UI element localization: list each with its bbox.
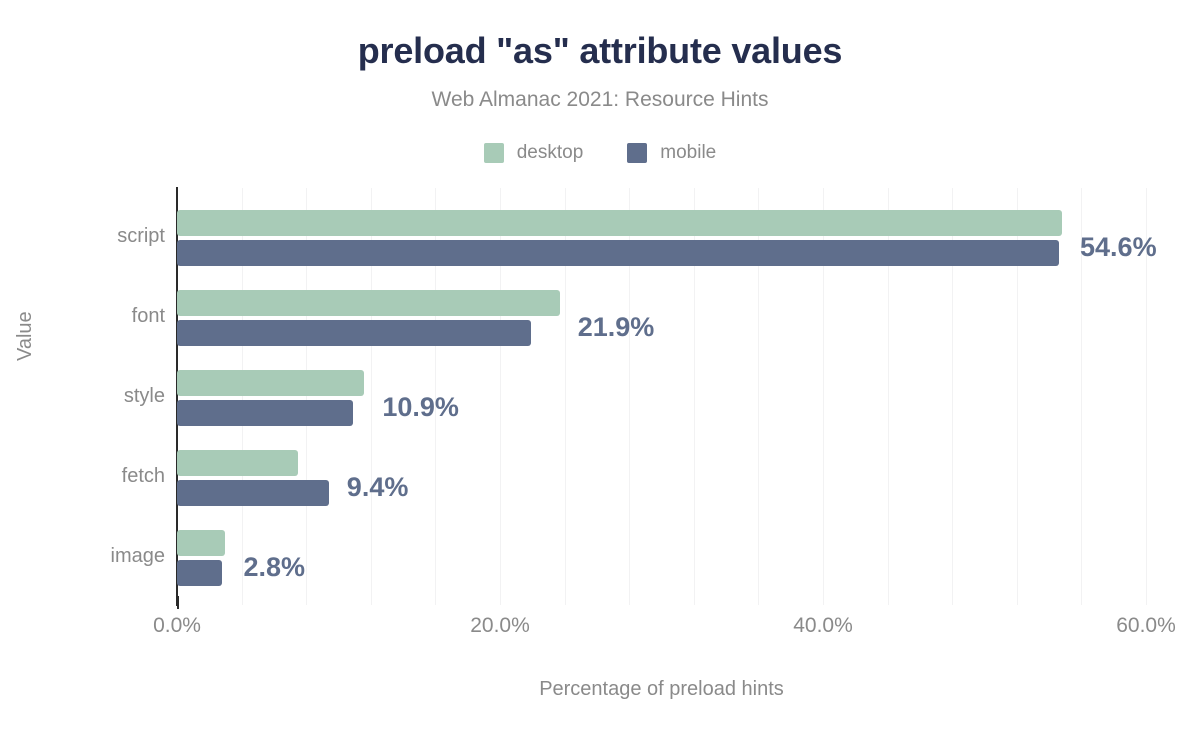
bar-mobile-style[interactable]: [177, 400, 353, 426]
bar-chart: preload "as" attribute values Web Almana…: [0, 0, 1200, 742]
data-label-font: 21.9%: [578, 312, 655, 343]
bar-desktop-script[interactable]: [177, 210, 1062, 236]
x-axis-title: Percentage of preload hints: [177, 678, 1146, 701]
bar-mobile-fetch[interactable]: [177, 480, 329, 506]
data-label-style: 10.9%: [382, 392, 459, 423]
chart-title: preload "as" attribute values: [0, 30, 1200, 72]
plot-area: 54.6%21.9%10.9%9.4%2.8%: [177, 188, 1146, 605]
bar-group: 9.4%: [177, 450, 1146, 506]
bar-desktop-fetch[interactable]: [177, 450, 298, 476]
y-tick-label-script: script: [15, 225, 165, 248]
bar-desktop-style[interactable]: [177, 370, 364, 396]
legend-item-mobile[interactable]: mobile: [627, 142, 716, 164]
x-tick-label: 0.0%: [117, 614, 237, 638]
x-tick-label: 60.0%: [1086, 614, 1200, 638]
bar-mobile-font[interactable]: [177, 320, 531, 346]
data-label-script: 54.6%: [1080, 232, 1157, 263]
chart-subtitle: Web Almanac 2021: Resource Hints: [0, 88, 1200, 112]
bar-mobile-image[interactable]: [177, 560, 222, 586]
y-tick-label-style: style: [15, 385, 165, 408]
legend-label-mobile: mobile: [660, 142, 716, 164]
bar-desktop-font[interactable]: [177, 290, 560, 316]
bar-group: 54.6%: [177, 210, 1146, 266]
data-label-fetch: 9.4%: [347, 472, 409, 503]
y-tick-label-fetch: fetch: [15, 465, 165, 488]
chart-legend: desktop mobile: [0, 142, 1200, 164]
y-tick-label-image: image: [15, 545, 165, 568]
bar-mobile-script[interactable]: [177, 240, 1059, 266]
bar-desktop-image[interactable]: [177, 530, 225, 556]
x-tick-label: 40.0%: [763, 614, 883, 638]
y-tick-label-font: font: [15, 305, 165, 328]
bar-group: 21.9%: [177, 290, 1146, 346]
data-label-image: 2.8%: [243, 552, 305, 583]
legend-swatch-mobile: [627, 143, 647, 163]
bar-group: 2.8%: [177, 530, 1146, 586]
legend-label-desktop: desktop: [517, 142, 584, 164]
x-tick-label: 20.0%: [440, 614, 560, 638]
x-tick-mark: [177, 596, 179, 609]
y-axis-title: Value: [14, 311, 37, 361]
legend-item-desktop[interactable]: desktop: [484, 142, 584, 164]
bar-group: 10.9%: [177, 370, 1146, 426]
legend-swatch-desktop: [484, 143, 504, 163]
